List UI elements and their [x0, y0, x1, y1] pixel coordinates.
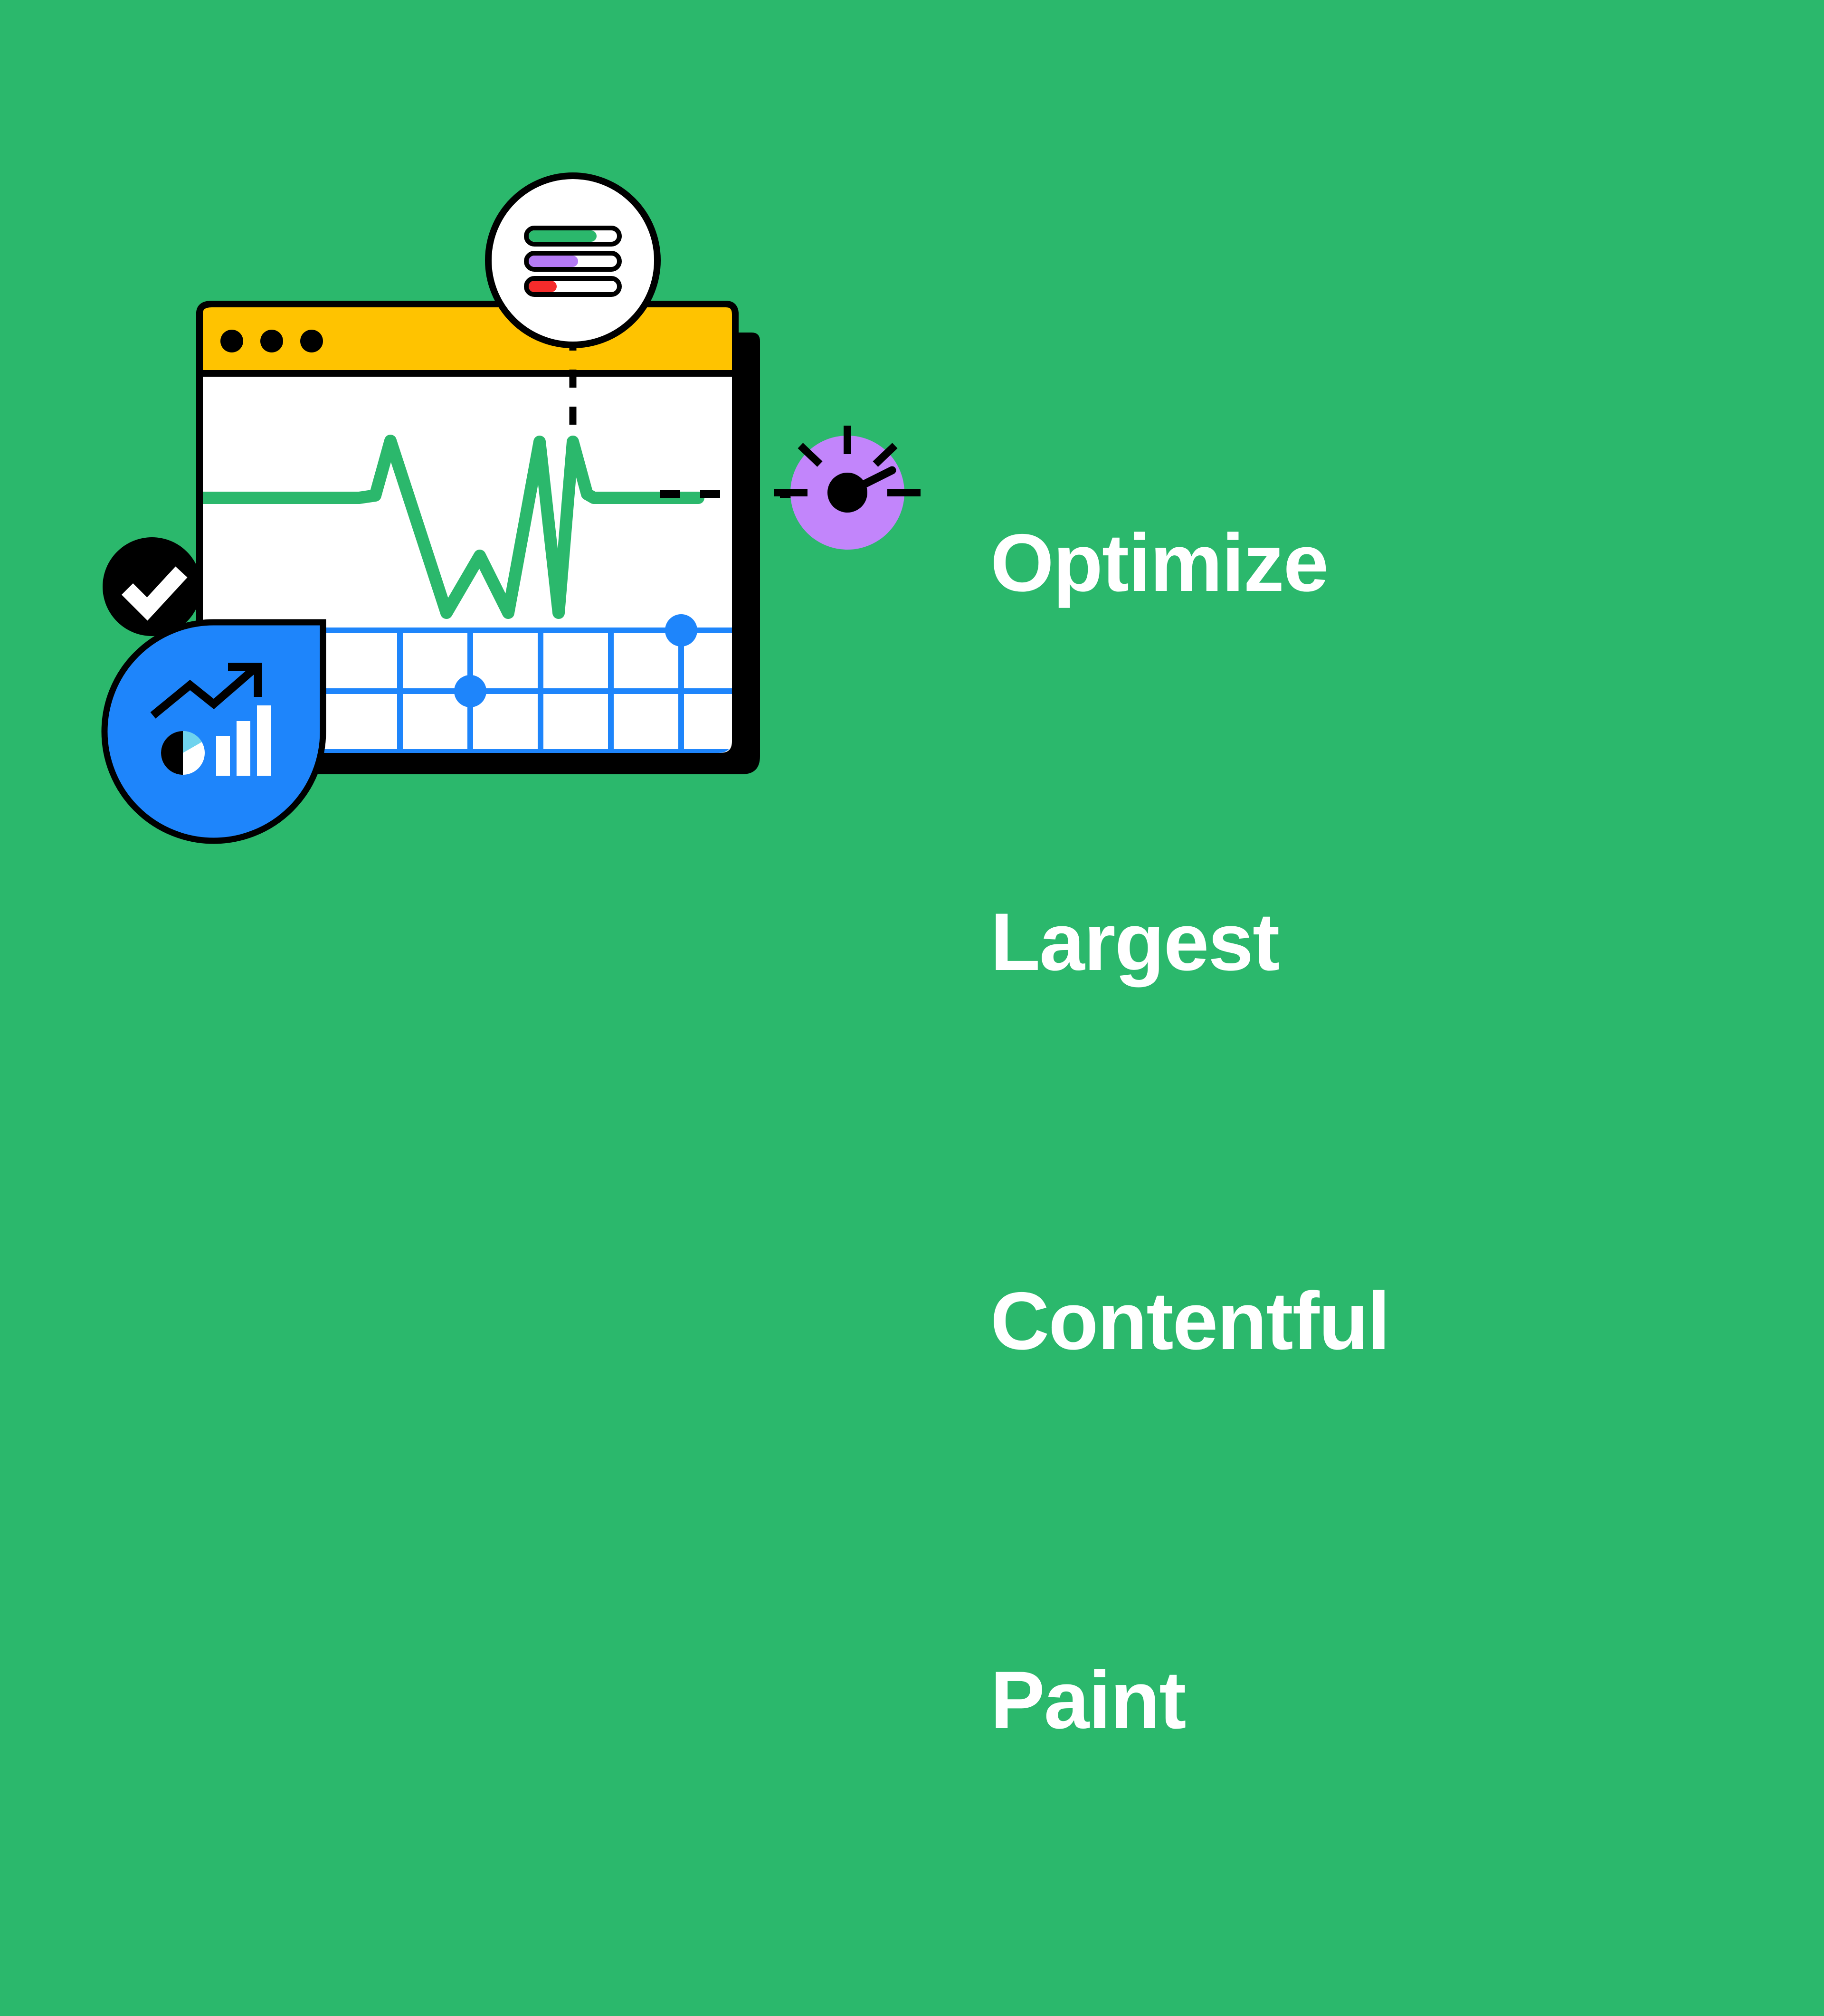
poor-metric-bar-fill — [529, 281, 557, 292]
hero-banner: Optimize Largest Contentful Paint — [0, 0, 1824, 1026]
page-title: Optimize Largest Contentful Paint — [990, 247, 1750, 2016]
check-badge-circle — [103, 537, 201, 636]
headline-line-2: Largest — [990, 879, 1750, 1005]
window-dot-3[interactable] — [300, 330, 323, 352]
analytics-droplet-badge[interactable] — [104, 622, 323, 841]
gauge-hub — [827, 473, 867, 513]
grid-marker-low[interactable] — [454, 675, 486, 707]
analytics-bar-large — [257, 705, 271, 776]
headline-line-1: Optimize — [990, 500, 1750, 626]
good-metric-bar-fill — [529, 230, 597, 242]
headline-line-3: Contentful — [990, 1258, 1750, 1384]
grid-marker-high[interactable] — [665, 614, 697, 647]
droplet-shape — [104, 622, 323, 841]
metrics-progress-card[interactable] — [488, 176, 657, 345]
analytics-bar-small — [216, 736, 230, 776]
headline-line-4: Paint — [990, 1637, 1750, 1763]
window-dot-1[interactable] — [220, 330, 243, 352]
window-dot-2[interactable] — [260, 330, 283, 352]
analytics-pie — [161, 731, 205, 775]
passed-check-badge[interactable] — [103, 537, 201, 636]
analytics-bar-medium — [237, 721, 250, 776]
needs-improvement-bar-fill — [529, 256, 578, 267]
